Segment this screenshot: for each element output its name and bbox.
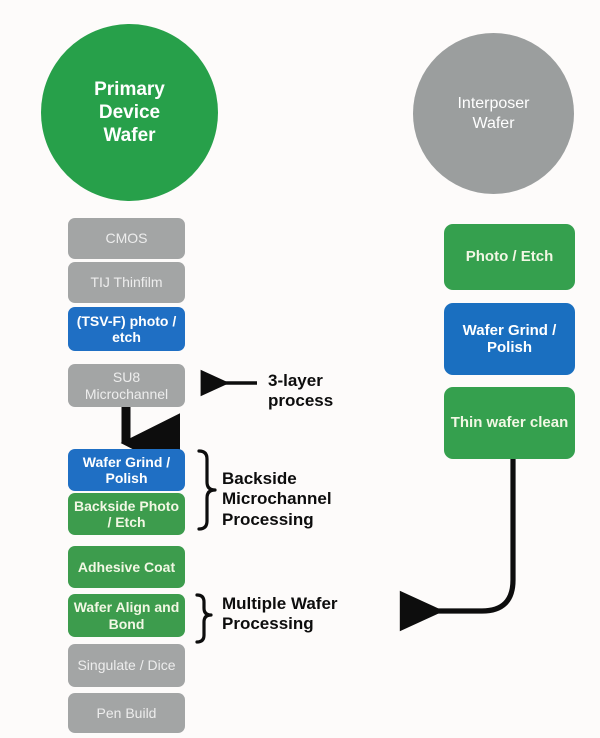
- process-box-adhesive-coat: Adhesive Coat: [68, 546, 185, 588]
- process-box-adhesive-coat-line2: Coat: [144, 559, 175, 575]
- process-box-su8-microchannel: SU8 Microchannel: [68, 364, 185, 407]
- annotation-multiple-wafer-line2: Processing: [222, 614, 338, 634]
- process-box-wafer-grind-polish: Wafer Grind / Polish: [68, 449, 185, 491]
- annotation-three-layer-process-line1: 3-layer: [268, 371, 333, 391]
- process-box-pen-build-line1: Pen Build: [97, 705, 157, 721]
- process-flow-diagram: Primary Device Wafer Interposer Wafer CM…: [0, 0, 600, 738]
- process-box-tij-thinfilm-line1: TIJ Thinfilm: [90, 274, 162, 290]
- process-box-wafer-grind-polish-interposer-line1: Wafer Grind: [463, 322, 548, 339]
- annotation-backside-microchannel-processing: Backside Microchannel Processing: [222, 469, 332, 530]
- annotation-multiple-wafer-processing: Multiple Wafer Processing: [222, 594, 338, 635]
- process-box-su8-microchannel-line1: SU8: [113, 369, 140, 385]
- annotation-three-layer-process-line2: process: [268, 391, 333, 411]
- arrow-interposer-to-multiple-wafer: [405, 459, 513, 611]
- process-box-singulate-dice: Singulate / Dice: [68, 644, 185, 687]
- process-box-tsv-f: (TSV-F) photo / etch: [68, 307, 185, 351]
- process-box-wafer-grind-polish-interposer: Wafer Grind / Polish: [444, 303, 575, 375]
- brace-backside-microchannel: [199, 451, 215, 529]
- process-box-wafer-align-and-bond: Wafer Align and Bond: [68, 594, 185, 637]
- process-box-su8-microchannel-line2: Microchannel: [85, 386, 168, 402]
- process-box-thin-wafer-clean-line1: Thin wafer: [451, 414, 526, 431]
- process-box-backside-photo-etch-line1: Backside: [74, 498, 135, 514]
- process-box-singulate-dice-line1: Singulate /: [77, 657, 143, 673]
- process-box-thin-wafer-clean-line2: clean: [530, 414, 568, 431]
- annotation-multiple-wafer-line1: Multiple Wafer: [222, 594, 338, 614]
- process-box-cmos: CMOS: [68, 218, 185, 259]
- process-box-cmos-line1: CMOS: [106, 230, 148, 246]
- process-box-tsv-f-line1: (TSV-F): [77, 313, 126, 329]
- annotation-backside-microchannel-line2: Microchannel: [222, 489, 332, 509]
- primary-device-wafer-circle: Primary Device Wafer: [41, 24, 218, 201]
- interposer-wafer-line1: Interposer: [457, 94, 529, 114]
- annotation-backside-microchannel-line3: Processing: [222, 510, 332, 530]
- process-box-tij-thinfilm: TIJ Thinfilm: [68, 262, 185, 303]
- process-box-wafer-grind-polish-line1: Wafer Grind: [83, 454, 163, 470]
- process-box-wafer-align-and-bond-line1: Wafer Align: [74, 599, 151, 615]
- annotation-backside-microchannel-line1: Backside: [222, 469, 332, 489]
- primary-wafer-line1: Primary: [94, 78, 165, 101]
- annotation-three-layer-process: 3-layer process: [268, 371, 333, 412]
- primary-wafer-line3: Wafer: [94, 124, 165, 147]
- process-box-photo-etch-line1: Photo / Etch: [466, 248, 554, 265]
- interposer-wafer-line2: Wafer: [457, 114, 529, 134]
- process-box-photo-etch: Photo / Etch: [444, 224, 575, 290]
- process-box-adhesive-coat-line1: Adhesive: [78, 559, 140, 575]
- process-box-backside-photo-etch: Backside Photo / Etch: [68, 493, 185, 535]
- brace-multiple-wafer: [197, 595, 211, 642]
- process-box-pen-build: Pen Build: [68, 693, 185, 733]
- interposer-wafer-circle: Interposer Wafer: [413, 33, 574, 194]
- process-box-thin-wafer-clean: Thin wafer clean: [444, 387, 575, 459]
- process-box-singulate-dice-line2: Dice: [148, 657, 176, 673]
- primary-wafer-line2: Device: [94, 101, 165, 124]
